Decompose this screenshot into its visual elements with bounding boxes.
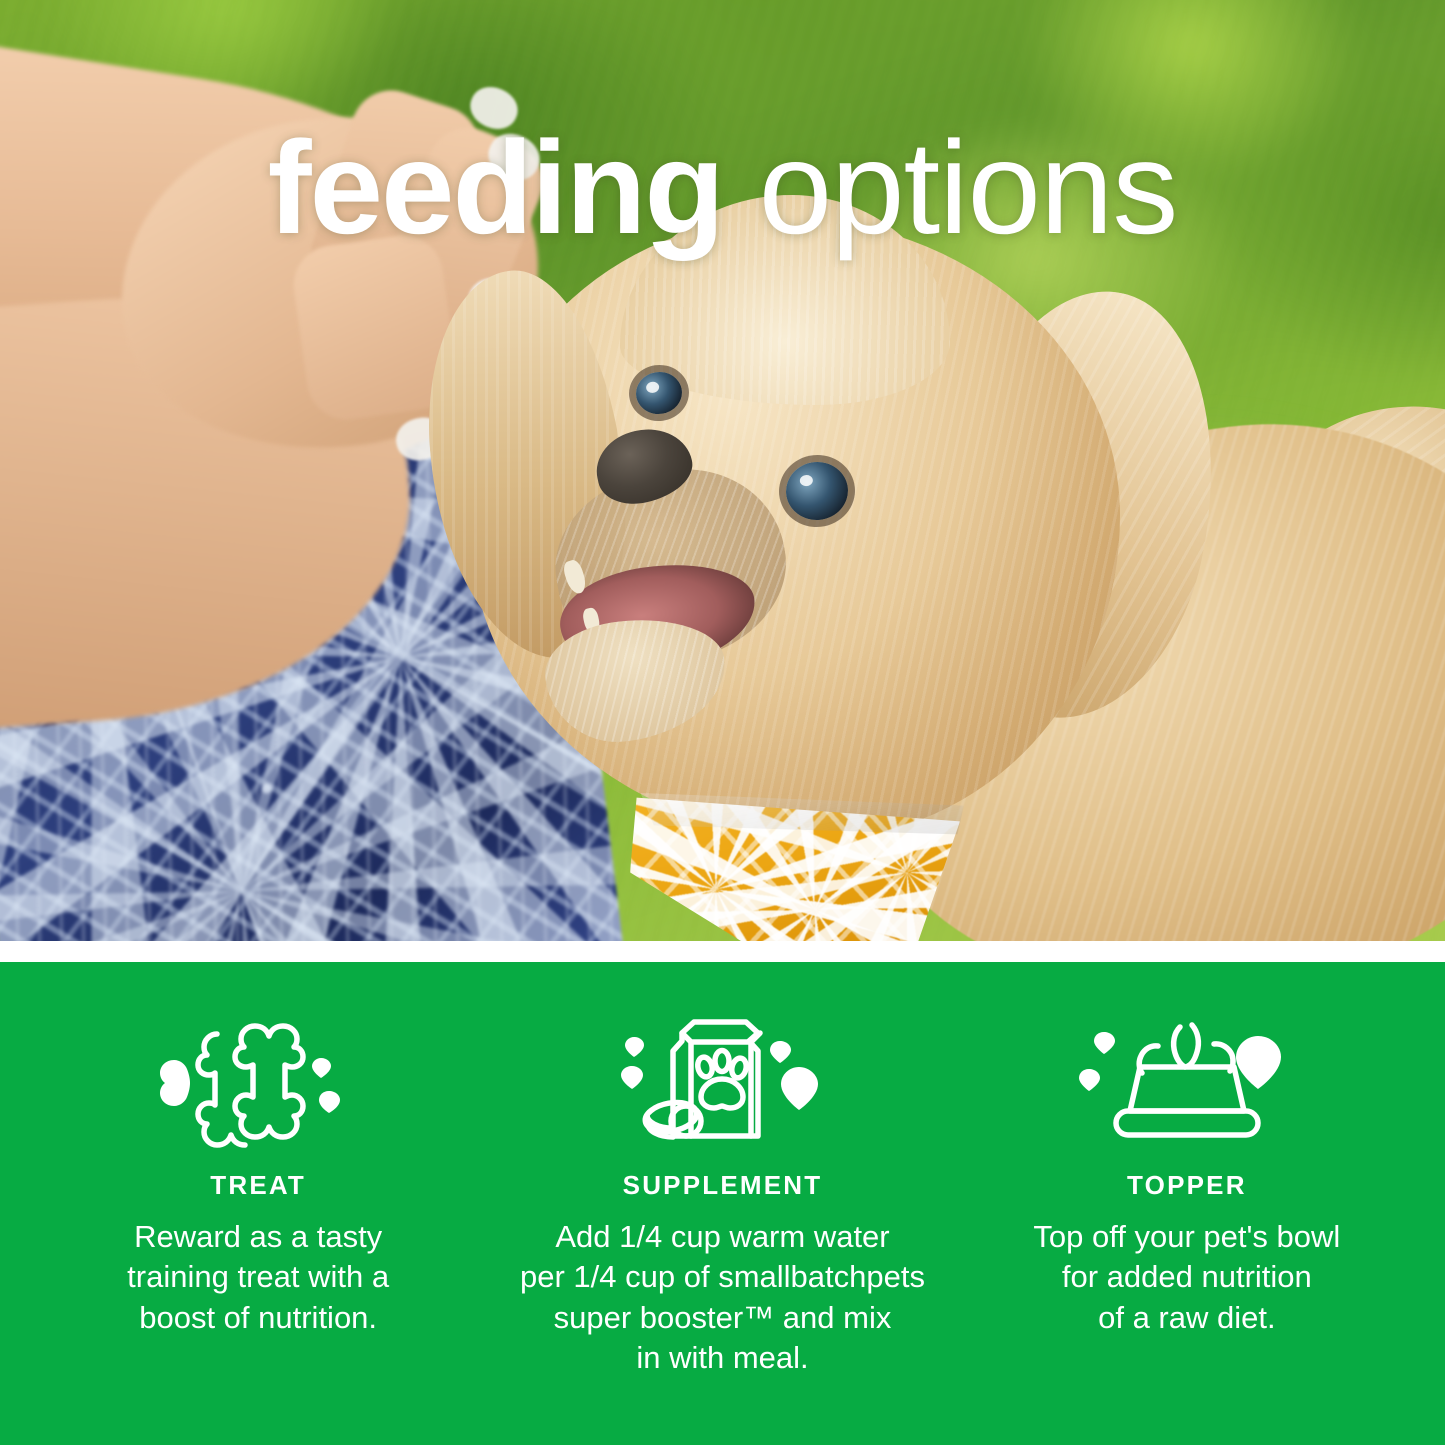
title-bold-word: feeding: [268, 114, 723, 261]
dog-bone-with-hearts-icon: [143, 1009, 373, 1159]
supplement-description: Add 1/4 cup warm water per 1/4 cup of sm…: [520, 1217, 925, 1378]
feeding-options-panel: TREAT Reward as a tasty training treat w…: [0, 962, 1445, 1445]
supplement-label: SUPPLEMENT: [623, 1170, 823, 1201]
topper-label: TOPPER: [1127, 1170, 1247, 1201]
feeding-option-supplement: SUPPLEMENT Add 1/4 cup warm water per 1/…: [490, 1004, 954, 1378]
supplement-line-1: Add 1/4 cup warm water: [555, 1219, 889, 1254]
page-title: feeding options: [0, 122, 1445, 254]
supplement-line-3: super booster™ and mix: [554, 1300, 892, 1335]
topper-line-2: for added nutrition: [1062, 1259, 1312, 1294]
infographic-page: feeding options TREAT Reward as a ta: [0, 0, 1445, 1445]
topper-icon-wrap: [1062, 1004, 1312, 1164]
hero-photo: feeding options: [0, 0, 1445, 941]
topper-line-3: of a raw diet.: [1098, 1300, 1275, 1335]
treat-label: TREAT: [210, 1170, 306, 1201]
treat-line-1: Reward as a tasty: [134, 1219, 382, 1254]
topper-description: Top off your pet's bowl for added nutrit…: [1033, 1217, 1340, 1338]
supplement-line-2: per 1/4 cup of smallbatchpets: [520, 1259, 925, 1294]
feeding-option-topper: TOPPER Top off your pet's bowl for added…: [955, 1004, 1419, 1338]
supplement-line-4: in with meal.: [636, 1340, 808, 1375]
treat-description: Reward as a tasty training treat with a …: [127, 1217, 389, 1338]
divider-gap: [0, 941, 1445, 962]
feeding-option-treat: TREAT Reward as a tasty training treat w…: [26, 1004, 490, 1338]
pet-bowl-with-food-and-hearts-icon: [1062, 1009, 1312, 1159]
food-bag-with-paw-and-hearts-icon: [598, 1009, 848, 1159]
supplement-icon-wrap: [598, 1004, 848, 1164]
treat-line-3: boost of nutrition.: [139, 1300, 377, 1335]
topper-line-1: Top off your pet's bowl: [1033, 1219, 1340, 1254]
treat-icon-wrap: [143, 1004, 373, 1164]
title-light-word: options: [723, 114, 1177, 261]
treat-line-2: training treat with a: [127, 1259, 389, 1294]
